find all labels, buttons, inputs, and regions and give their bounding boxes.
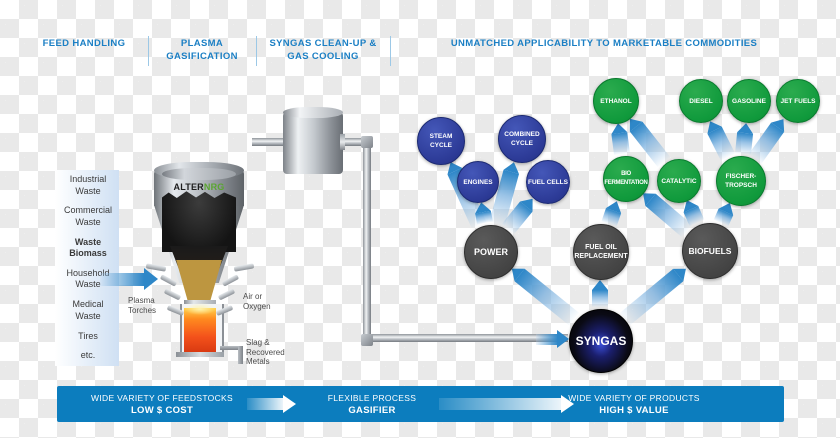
header-label-0: FEED HANDLING bbox=[24, 38, 144, 51]
flow-arrow-syngas-to-power bbox=[507, 262, 580, 325]
arrow-shaft bbox=[515, 269, 580, 326]
node-label: ENGINES bbox=[463, 178, 492, 187]
banner-right-top: WIDE VARIETY OF PRODUCTS bbox=[568, 393, 700, 403]
feedstock-item-0: IndustrialWaste bbox=[70, 174, 107, 197]
plasma-gasifier: ALTERNRG bbox=[140, 160, 260, 370]
banner-arrow-1-tip bbox=[283, 395, 296, 413]
logo-suffix: RG bbox=[211, 182, 225, 192]
banner-arrow-1-body bbox=[247, 398, 283, 410]
header-divider-0 bbox=[148, 36, 149, 66]
plasma-glow-icon bbox=[184, 303, 216, 315]
node-label: DIESEL bbox=[689, 97, 712, 106]
feedstock-item-6: etc. bbox=[81, 350, 96, 362]
node-label: JET FUELS bbox=[780, 97, 815, 106]
gasifier-label-2: Slag &RecoveredMetals bbox=[246, 338, 285, 367]
arrow-tip bbox=[737, 122, 754, 134]
header-divider-1 bbox=[256, 36, 257, 66]
gasifier-inlet-icon bbox=[234, 263, 255, 271]
node-gasoline[interactable]: GASOLINE bbox=[727, 79, 771, 123]
plasma-torch-icon bbox=[160, 274, 177, 286]
logo-prefix: ALTER bbox=[174, 182, 204, 192]
arrow-shaft bbox=[592, 290, 608, 307]
flow-arrow-syngas-to-fuel-oil-replacement bbox=[592, 280, 608, 307]
gas-cleanup-vessel bbox=[283, 112, 343, 174]
node-label: SYNGAS bbox=[576, 337, 627, 346]
value-chain-banner: WIDE VARIETY OF FEEDSTOCKS LOW $ COST FL… bbox=[57, 386, 784, 422]
banner-left-bottom: LOW $ COST bbox=[131, 405, 193, 416]
pipe-elbow bbox=[361, 334, 373, 346]
node-label: BIOFERMENTATION bbox=[604, 170, 647, 188]
node-label: FUEL OILREPLACEMENT bbox=[574, 243, 627, 261]
node-label: FISCHER-TROPSCH bbox=[725, 172, 757, 190]
banner-mid-top: FLEXIBLE PROCESS bbox=[328, 393, 416, 403]
plasma-torch-icon bbox=[222, 274, 239, 286]
node-label: GASOLINE bbox=[732, 97, 766, 106]
feedstock-list: IndustrialWasteCommercialWasteWasteBioma… bbox=[40, 170, 136, 366]
node-biofuels[interactable]: BIOFUELS bbox=[682, 223, 738, 279]
node-combined-cycle[interactable]: COMBINEDCYCLE bbox=[498, 115, 546, 163]
feedstock-arrow-body bbox=[100, 273, 144, 286]
feedstock-item-1: CommercialWaste bbox=[64, 205, 112, 228]
syngas-inlet-arrow-body bbox=[536, 334, 558, 345]
slag-outlet-drop bbox=[238, 346, 243, 364]
banner-right-bottom: HIGH $ VALUE bbox=[599, 405, 668, 416]
header-label-2: SYNGAS CLEAN-UP &GAS COOLING bbox=[260, 38, 386, 63]
node-label: STEAMCYCLE bbox=[430, 132, 453, 150]
feedstock-item-5: Tires bbox=[78, 331, 98, 343]
node-fuel-oil-replacement[interactable]: FUEL OILREPLACEMENT bbox=[573, 224, 629, 280]
node-catalytic[interactable]: CATALYTIC bbox=[657, 159, 701, 203]
header-label-1: PLASMAGASIFICATION bbox=[152, 38, 252, 63]
plasma-torch-icon bbox=[218, 289, 235, 301]
arrow-shaft bbox=[611, 133, 629, 155]
node-engines[interactable]: ENGINES bbox=[457, 161, 499, 203]
arrow-shaft bbox=[620, 269, 684, 325]
gasifier-lid-cap bbox=[162, 168, 236, 180]
node-fuel-cells[interactable]: FUEL CELLS bbox=[526, 160, 570, 204]
node-label: BIOFUELS bbox=[689, 247, 732, 256]
banner-mid-bottom: GASIFIER bbox=[348, 405, 395, 416]
node-label: CATALYTIC bbox=[661, 177, 696, 186]
node-label: FUEL CELLS bbox=[528, 178, 568, 187]
arrow-tip bbox=[592, 280, 608, 290]
node-power[interactable]: POWER bbox=[464, 225, 518, 279]
feedstock-item-4: MedicalWaste bbox=[72, 299, 103, 322]
gasifier-label-0: PlasmaTorches bbox=[128, 296, 156, 315]
gasifier-base bbox=[176, 352, 224, 357]
node-steam-cycle[interactable]: STEAMCYCLE bbox=[417, 117, 465, 165]
banner-left-top: WIDE VARIETY OF FEEDSTOCKS bbox=[91, 393, 233, 403]
pipe-elbow bbox=[361, 136, 373, 148]
gasifier-interior bbox=[162, 190, 236, 252]
alter-nrg-logo: ALTERNRG bbox=[168, 182, 230, 192]
logo-accent: N bbox=[204, 182, 211, 192]
node-jet-fuels[interactable]: JET FUELS bbox=[776, 79, 820, 123]
node-bio-fermentation[interactable]: BIOFERMENTATION bbox=[603, 156, 649, 202]
banner-mid-text: FLEXIBLE PROCESS GASIFIER bbox=[305, 393, 439, 416]
banner-left-text: WIDE VARIETY OF FEEDSTOCKS LOW $ COST bbox=[82, 393, 242, 416]
banner-right-text: WIDE VARIETY OF PRODUCTS HIGH $ VALUE bbox=[509, 393, 759, 416]
gasifier-inlet-icon bbox=[146, 263, 167, 271]
header-divider-2 bbox=[390, 36, 391, 66]
node-label: ETHANOL bbox=[600, 97, 631, 106]
flow-arrow-syngas-to-biofuels bbox=[620, 262, 691, 325]
plasma-torch-icon bbox=[164, 289, 181, 301]
diagram-canvas: FEED HANDLINGPLASMAGASIFICATIONSYNGAS CL… bbox=[0, 0, 840, 438]
node-ethanol[interactable]: ETHANOL bbox=[593, 78, 639, 124]
gasifier-label-1: Air orOxygen bbox=[243, 292, 271, 311]
header-label-3: UNMATCHED APPLICABILITY TO MARKETABLE CO… bbox=[394, 38, 814, 51]
node-label: COMBINEDCYCLE bbox=[504, 130, 539, 148]
node-diesel[interactable]: DIESEL bbox=[679, 79, 723, 123]
downcomer-pipe bbox=[363, 142, 371, 342]
flow-arrow-fischer-tropsch-to-diesel bbox=[703, 117, 735, 160]
pipe-flange bbox=[340, 134, 345, 150]
node-label: POWER bbox=[474, 248, 508, 257]
node-fischer-tropsch[interactable]: FISCHER-TROPSCH bbox=[716, 156, 766, 206]
flow-arrow-fuel-oil-replacement-to-bio-fermentation bbox=[602, 198, 625, 226]
node-syngas[interactable]: SYNGAS bbox=[569, 309, 633, 373]
syngas-inlet-arrow-head bbox=[557, 330, 569, 348]
gas-cleanup-vessel-top bbox=[283, 107, 343, 118]
feedstock-item-2: WasteBiomass bbox=[69, 237, 107, 260]
